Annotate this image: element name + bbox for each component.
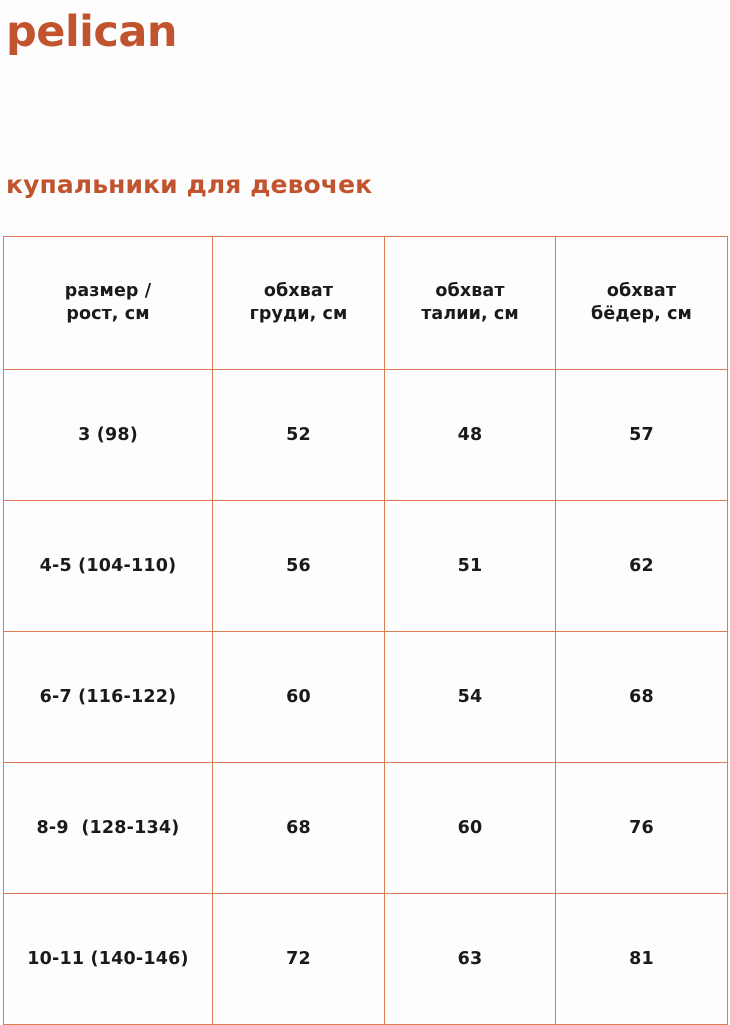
cell-hips: 81 — [556, 894, 728, 1025]
size-chart-page: pelican купальники для девочек размер / … — [0, 0, 730, 1000]
table-row: 8-9 (128-134) 68 60 76 — [4, 763, 728, 894]
cell-waist: 51 — [385, 501, 556, 632]
table-row: 3 (98) 52 48 57 — [4, 370, 728, 501]
cell-chest: 60 — [213, 632, 385, 763]
column-header-chest: обхват груди, см — [213, 237, 385, 370]
column-header-hips-line2: бёдер, см — [560, 303, 723, 326]
cell-size: 3 (98) — [4, 370, 213, 501]
brand-logo: pelican — [6, 6, 306, 58]
column-header-waist-line1: обхват — [389, 280, 551, 303]
cell-hips: 57 — [556, 370, 728, 501]
cell-chest: 72 — [213, 894, 385, 1025]
brand-wordmark: pelican — [6, 11, 177, 54]
cell-size: 4-5 (104-110) — [4, 501, 213, 632]
cell-waist: 63 — [385, 894, 556, 1025]
cell-size: 6-7 (116-122) — [4, 632, 213, 763]
column-header-waist: обхват талии, см — [385, 237, 556, 370]
table-row: 10-11 (140-146) 72 63 81 — [4, 894, 728, 1025]
size-table: размер / рост, см обхват груди, см обхва… — [3, 236, 728, 1025]
size-table-header: размер / рост, см обхват груди, см обхва… — [4, 237, 728, 370]
cell-waist: 48 — [385, 370, 556, 501]
size-table-container: размер / рост, см обхват груди, см обхва… — [3, 236, 727, 995]
column-header-size-line1: размер / — [8, 280, 208, 303]
cell-chest: 52 — [213, 370, 385, 501]
column-header-hips-line1: обхват — [560, 280, 723, 303]
cell-chest: 68 — [213, 763, 385, 894]
cell-size: 10-11 (140-146) — [4, 894, 213, 1025]
cell-hips: 76 — [556, 763, 728, 894]
cell-chest: 56 — [213, 501, 385, 632]
column-header-chest-line2: груди, см — [217, 303, 380, 326]
cell-hips: 68 — [556, 632, 728, 763]
size-table-body: 3 (98) 52 48 57 4-5 (104-110) 56 51 62 6… — [4, 370, 728, 1025]
column-header-size-line2: рост, см — [8, 303, 208, 326]
column-header-hips: обхват бёдер, см — [556, 237, 728, 370]
column-header-waist-line2: талии, см — [389, 303, 551, 326]
cell-size: 8-9 (128-134) — [4, 763, 213, 894]
page-title: купальники для девочек — [6, 171, 372, 200]
cell-hips: 62 — [556, 501, 728, 632]
cell-waist: 60 — [385, 763, 556, 894]
cell-waist: 54 — [385, 632, 556, 763]
table-row: 6-7 (116-122) 60 54 68 — [4, 632, 728, 763]
column-header-size: размер / рост, см — [4, 237, 213, 370]
table-header-row: размер / рост, см обхват груди, см обхва… — [4, 237, 728, 370]
table-row: 4-5 (104-110) 56 51 62 — [4, 501, 728, 632]
column-header-chest-line1: обхват — [217, 280, 380, 303]
